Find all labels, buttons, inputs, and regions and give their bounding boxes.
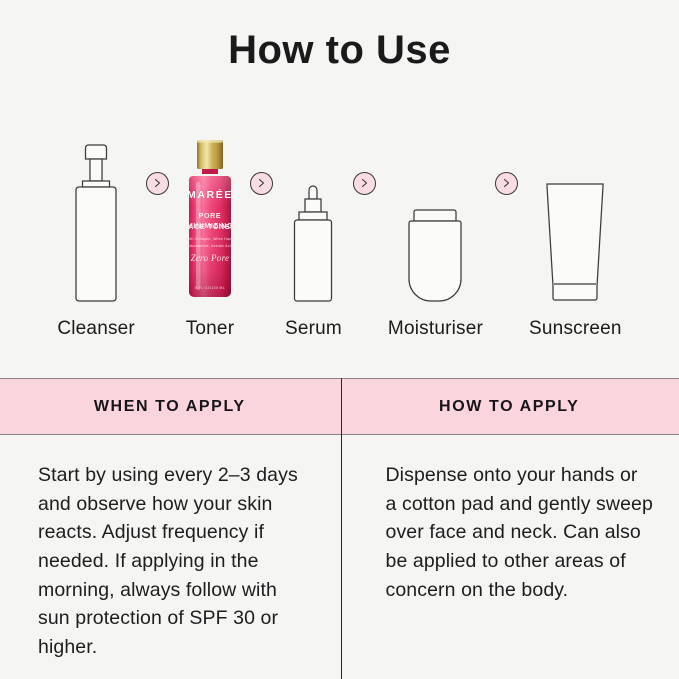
squeeze-tube-outline-icon — [541, 119, 609, 304]
dropper-bottle-outline-icon — [289, 119, 337, 304]
page-title: How to Use — [0, 0, 679, 72]
column-when-to-apply: Start by using every 2–3 days and observ… — [0, 435, 344, 679]
step-label-cleanser: Cleanser — [57, 318, 135, 340]
chevron-right-icon — [495, 172, 518, 195]
step-label-moisturiser: Moisturiser — [388, 318, 483, 340]
step-label-sunscreen: Sunscreen — [529, 318, 622, 340]
column-divider — [341, 378, 342, 679]
section-heading-when: WHEN TO APPLY — [0, 379, 340, 434]
toner-bottle-icon: MARÉE PORE MINIMIZING FACE TONER With Co… — [181, 119, 239, 304]
pump-bottle-outline-icon — [66, 119, 126, 304]
connector-1 — [135, 90, 181, 340]
chevron-right-icon — [250, 172, 273, 195]
connector-3 — [342, 90, 388, 340]
how-to-apply-text: Dispense onto your hands or a cotton pad… — [386, 461, 654, 604]
section-heading-band: WHEN TO APPLY HOW TO APPLY — [0, 378, 679, 435]
routine-step-moisturiser: Moisturiser — [388, 90, 483, 340]
routine-step-cleanser: Cleanser — [57, 90, 135, 340]
instruction-columns: Start by using every 2–3 days and observ… — [0, 435, 679, 679]
connector-4 — [483, 90, 529, 340]
routine-step-sunscreen: Sunscreen — [529, 90, 622, 340]
step-label-serum: Serum — [285, 318, 342, 340]
column-how-to-apply: Dispense onto your hands or a cotton pad… — [344, 435, 679, 679]
cream-jar-outline-icon — [400, 119, 470, 304]
section-heading-how: HOW TO APPLY — [340, 379, 679, 434]
when-to-apply-text: Start by using every 2–3 days and observ… — [38, 461, 306, 662]
routine-step-toner: MARÉE PORE MINIMIZING FACE TONER With Co… — [181, 90, 239, 340]
chevron-right-icon — [146, 172, 169, 195]
connector-2 — [239, 90, 285, 340]
routine-steps: Cleanser — [0, 90, 679, 340]
routine-step-serum: Serum — [285, 90, 342, 340]
chevron-right-icon — [353, 172, 376, 195]
step-label-toner: Toner — [186, 318, 235, 340]
